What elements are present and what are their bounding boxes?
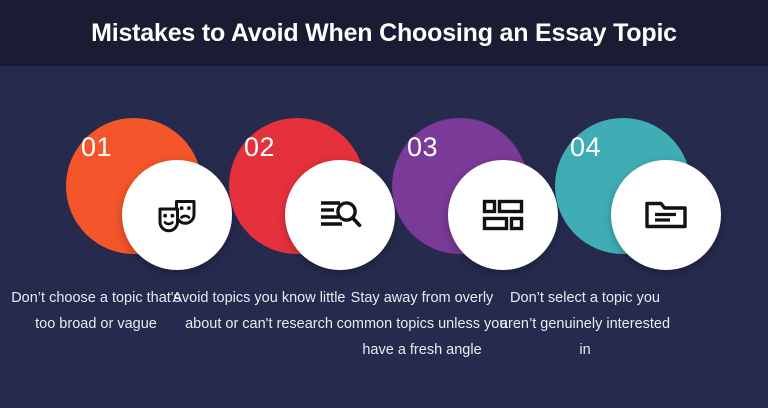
step-icon-disc-4[interactable] [611,160,721,270]
step-number-1: 01 [81,134,112,161]
step-caption-4: Don’t select a topic you aren’t genuinel… [487,285,683,363]
folder-document-icon [641,190,691,240]
step-number-2: 02 [244,134,275,161]
infographic-page: Mistakes to Avoid When Choosing an Essay… [0,0,768,408]
header-bar: Mistakes to Avoid When Choosing an Essay… [0,0,768,66]
step-item-4[interactable]: 04 Don’t select a topic you aren’t genui… [489,66,681,408]
page-title: Mistakes to Avoid When Choosing an Essay… [91,19,677,48]
step-number-3: 03 [407,134,438,161]
steps-row: 01 Don’t choose a topic that's too b [0,66,768,408]
step-number-4: 04 [570,134,601,161]
